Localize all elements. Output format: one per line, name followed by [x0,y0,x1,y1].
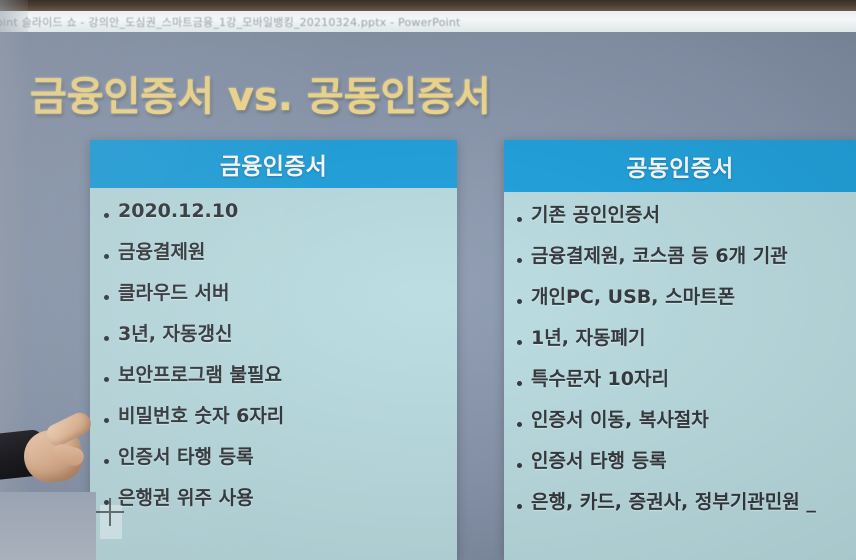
powerpoint-titlebar: oint 슬라이드 쇼 - 강의안_도심권_스마트금융_1강_모바일뱅킹_202… [0,11,856,32]
bullet-dot-icon [104,418,109,423]
list-item: 특수문자 10자리 [504,370,856,389]
list-item: 비밀번호 숫자 6자리 [90,407,457,426]
bullet-list-left: 2020.12.10 금융결제원 클라우드 서버 3년, 자동갱신 [90,202,457,508]
list-item: 기존 공인인증서 [504,206,856,225]
list-item: 금융결제원 [90,243,457,262]
bullet-dot-icon [517,299,522,304]
panel-header-right-label: 공동인증서 [626,149,733,183]
comparison-panel-left: 금융인증서 2020.12.10 금융결제원 클라우드 서버 [90,140,457,560]
panel-body-right: 기존 공인인증서 금융결제원, 코스콤 등 6개 기관 개인PC, USB, 스… [504,192,856,512]
bullet-dot-icon [104,377,109,382]
bullet-dot-icon [104,254,109,259]
bullet-text: 비밀번호 숫자 6자리 [118,407,284,426]
bullet-text: 은행권 위주 사용 [118,489,254,508]
bullet-text: 기존 공인인증서 [531,206,660,225]
list-item: 인증서 이동, 복사절차 [504,411,856,430]
bullet-dot-icon [517,504,522,509]
bullet-dot-icon [104,295,109,300]
bullet-dot-icon [517,381,522,386]
panel-header-right: 공동인증서 [504,140,856,192]
list-item: 금융결제원, 코스콤 등 6개 기관 [504,247,856,266]
bullet-text: 인증서 타행 등록 [118,448,254,467]
wall-bottom-patch [0,492,96,560]
bullet-dot-icon [517,340,522,345]
list-item: 1년, 자동폐기 [504,329,856,348]
bullet-text: 금융결제원 [118,243,205,262]
bullet-text: 인증서 타행 등록 [531,452,667,471]
bullet-text: 인증서 이동, 복사절차 [531,411,709,430]
list-item: 클라우드 서버 [90,284,457,303]
panel-body-left: 2020.12.10 금융결제원 클라우드 서버 3년, 자동갱신 [90,188,457,508]
slide-title: 금융인증서 vs. 공동인증서 [30,64,491,122]
bullet-dot-icon [517,463,522,468]
list-item: 은행권 위주 사용 [90,489,457,508]
bullet-text: 개인PC, USB, 스마트폰 [531,288,735,307]
panel-header-left: 금융인증서 [90,140,457,188]
bullet-dot-icon [517,217,522,222]
bullet-dot-icon [517,258,522,263]
panel-header-left-label: 금융인증서 [220,147,327,181]
list-item: 개인PC, USB, 스마트폰 [504,288,856,307]
bullet-text: 은행, 카드, 증권사, 정부기관민원 _ [531,493,816,512]
list-item: 3년, 자동갱신 [90,325,457,344]
bullet-text: 2020.12.10 [118,202,238,221]
bullet-dot-icon [104,459,109,464]
bullet-text: 3년, 자동갱신 [118,325,232,344]
titlebar-text: oint 슬라이드 쇼 - 강의안_도심권_스마트금융_1강_모바일뱅킹_202… [0,14,461,30]
list-item: 인증서 타행 등록 [90,448,457,467]
bullet-list-right: 기존 공인인증서 금융결제원, 코스콤 등 6개 기관 개인PC, USB, 스… [504,206,856,512]
list-item: 은행, 카드, 증권사, 정부기관민원 _ [504,493,856,512]
bullet-text: 클라우드 서버 [118,284,230,303]
bullet-dot-icon [104,336,109,341]
bullet-text: 특수문자 10자리 [531,370,669,389]
list-item: 인증서 타행 등록 [504,452,856,471]
list-item: 2020.12.10 [90,202,457,221]
comparison-panel-right: 공동인증서 기존 공인인증서 금융결제원, 코스콤 등 6개 기관 개인PC, … [504,140,856,560]
slide-surface: 금융인증서 vs. 공동인증서 금융인증서 2020.12.10 금융결제원 [0,32,856,560]
bullet-dot-icon [517,422,522,427]
screen-edge-artifact [100,505,122,539]
ceiling-strip [0,0,856,11]
bullet-text: 1년, 자동폐기 [531,329,645,348]
bullet-text: 금융결제원, 코스콤 등 6개 기관 [531,247,788,266]
bullet-dot-icon [104,213,109,218]
bullet-text: 보안프로그램 불필요 [118,366,282,385]
projected-slide-photo: oint 슬라이드 쇼 - 강의안_도심권_스마트금융_1강_모바일뱅킹_202… [0,0,856,560]
list-item: 보안프로그램 불필요 [90,366,457,385]
